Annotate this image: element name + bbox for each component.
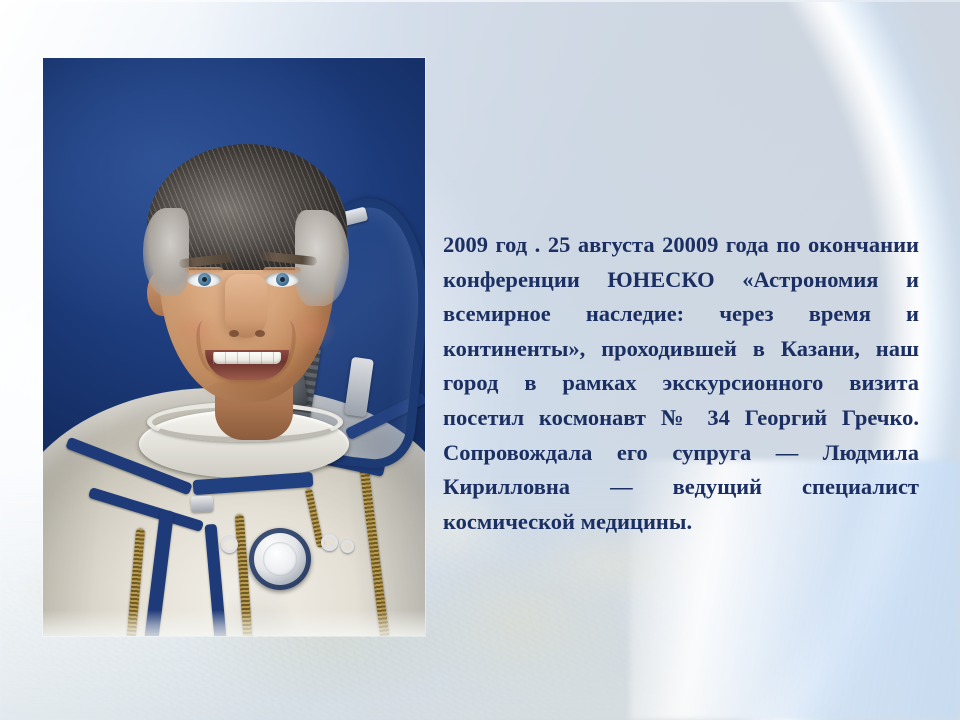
hair-grey-left xyxy=(143,208,189,296)
harness-buckle xyxy=(191,495,214,512)
iris-right xyxy=(276,273,289,286)
suit-attach-ring-left xyxy=(221,536,238,553)
eyelid-right xyxy=(263,267,301,274)
nostril-right xyxy=(255,330,265,337)
nose xyxy=(225,274,267,338)
suit-pressure-valve: ✳ xyxy=(249,528,311,590)
slide-top-hairline xyxy=(0,0,960,2)
photo-bottom-fade xyxy=(43,610,425,636)
eye-right xyxy=(265,272,299,287)
cosmonaut-photo: ✳ САЛЮТ ★ xyxy=(43,58,425,636)
iris-left xyxy=(198,273,211,286)
eyelid-left xyxy=(185,267,223,274)
chin-shadow xyxy=(201,380,293,404)
eye-left xyxy=(187,272,221,287)
slide-body-text: 2009 год . 25 августа 20009 года по окон… xyxy=(443,228,919,539)
teeth xyxy=(213,352,281,364)
body-paragraph: 2009 год . 25 августа 20009 года по окон… xyxy=(443,228,919,539)
suit-attach-ring-extra xyxy=(341,540,354,553)
valve-marking-icon: ✳ xyxy=(273,553,287,565)
nostril-left xyxy=(229,330,239,337)
suit-attach-ring-right xyxy=(321,534,338,551)
slide-canvas: ✳ САЛЮТ ★ 2009 год . 25 августа 20009 го… xyxy=(0,0,960,720)
